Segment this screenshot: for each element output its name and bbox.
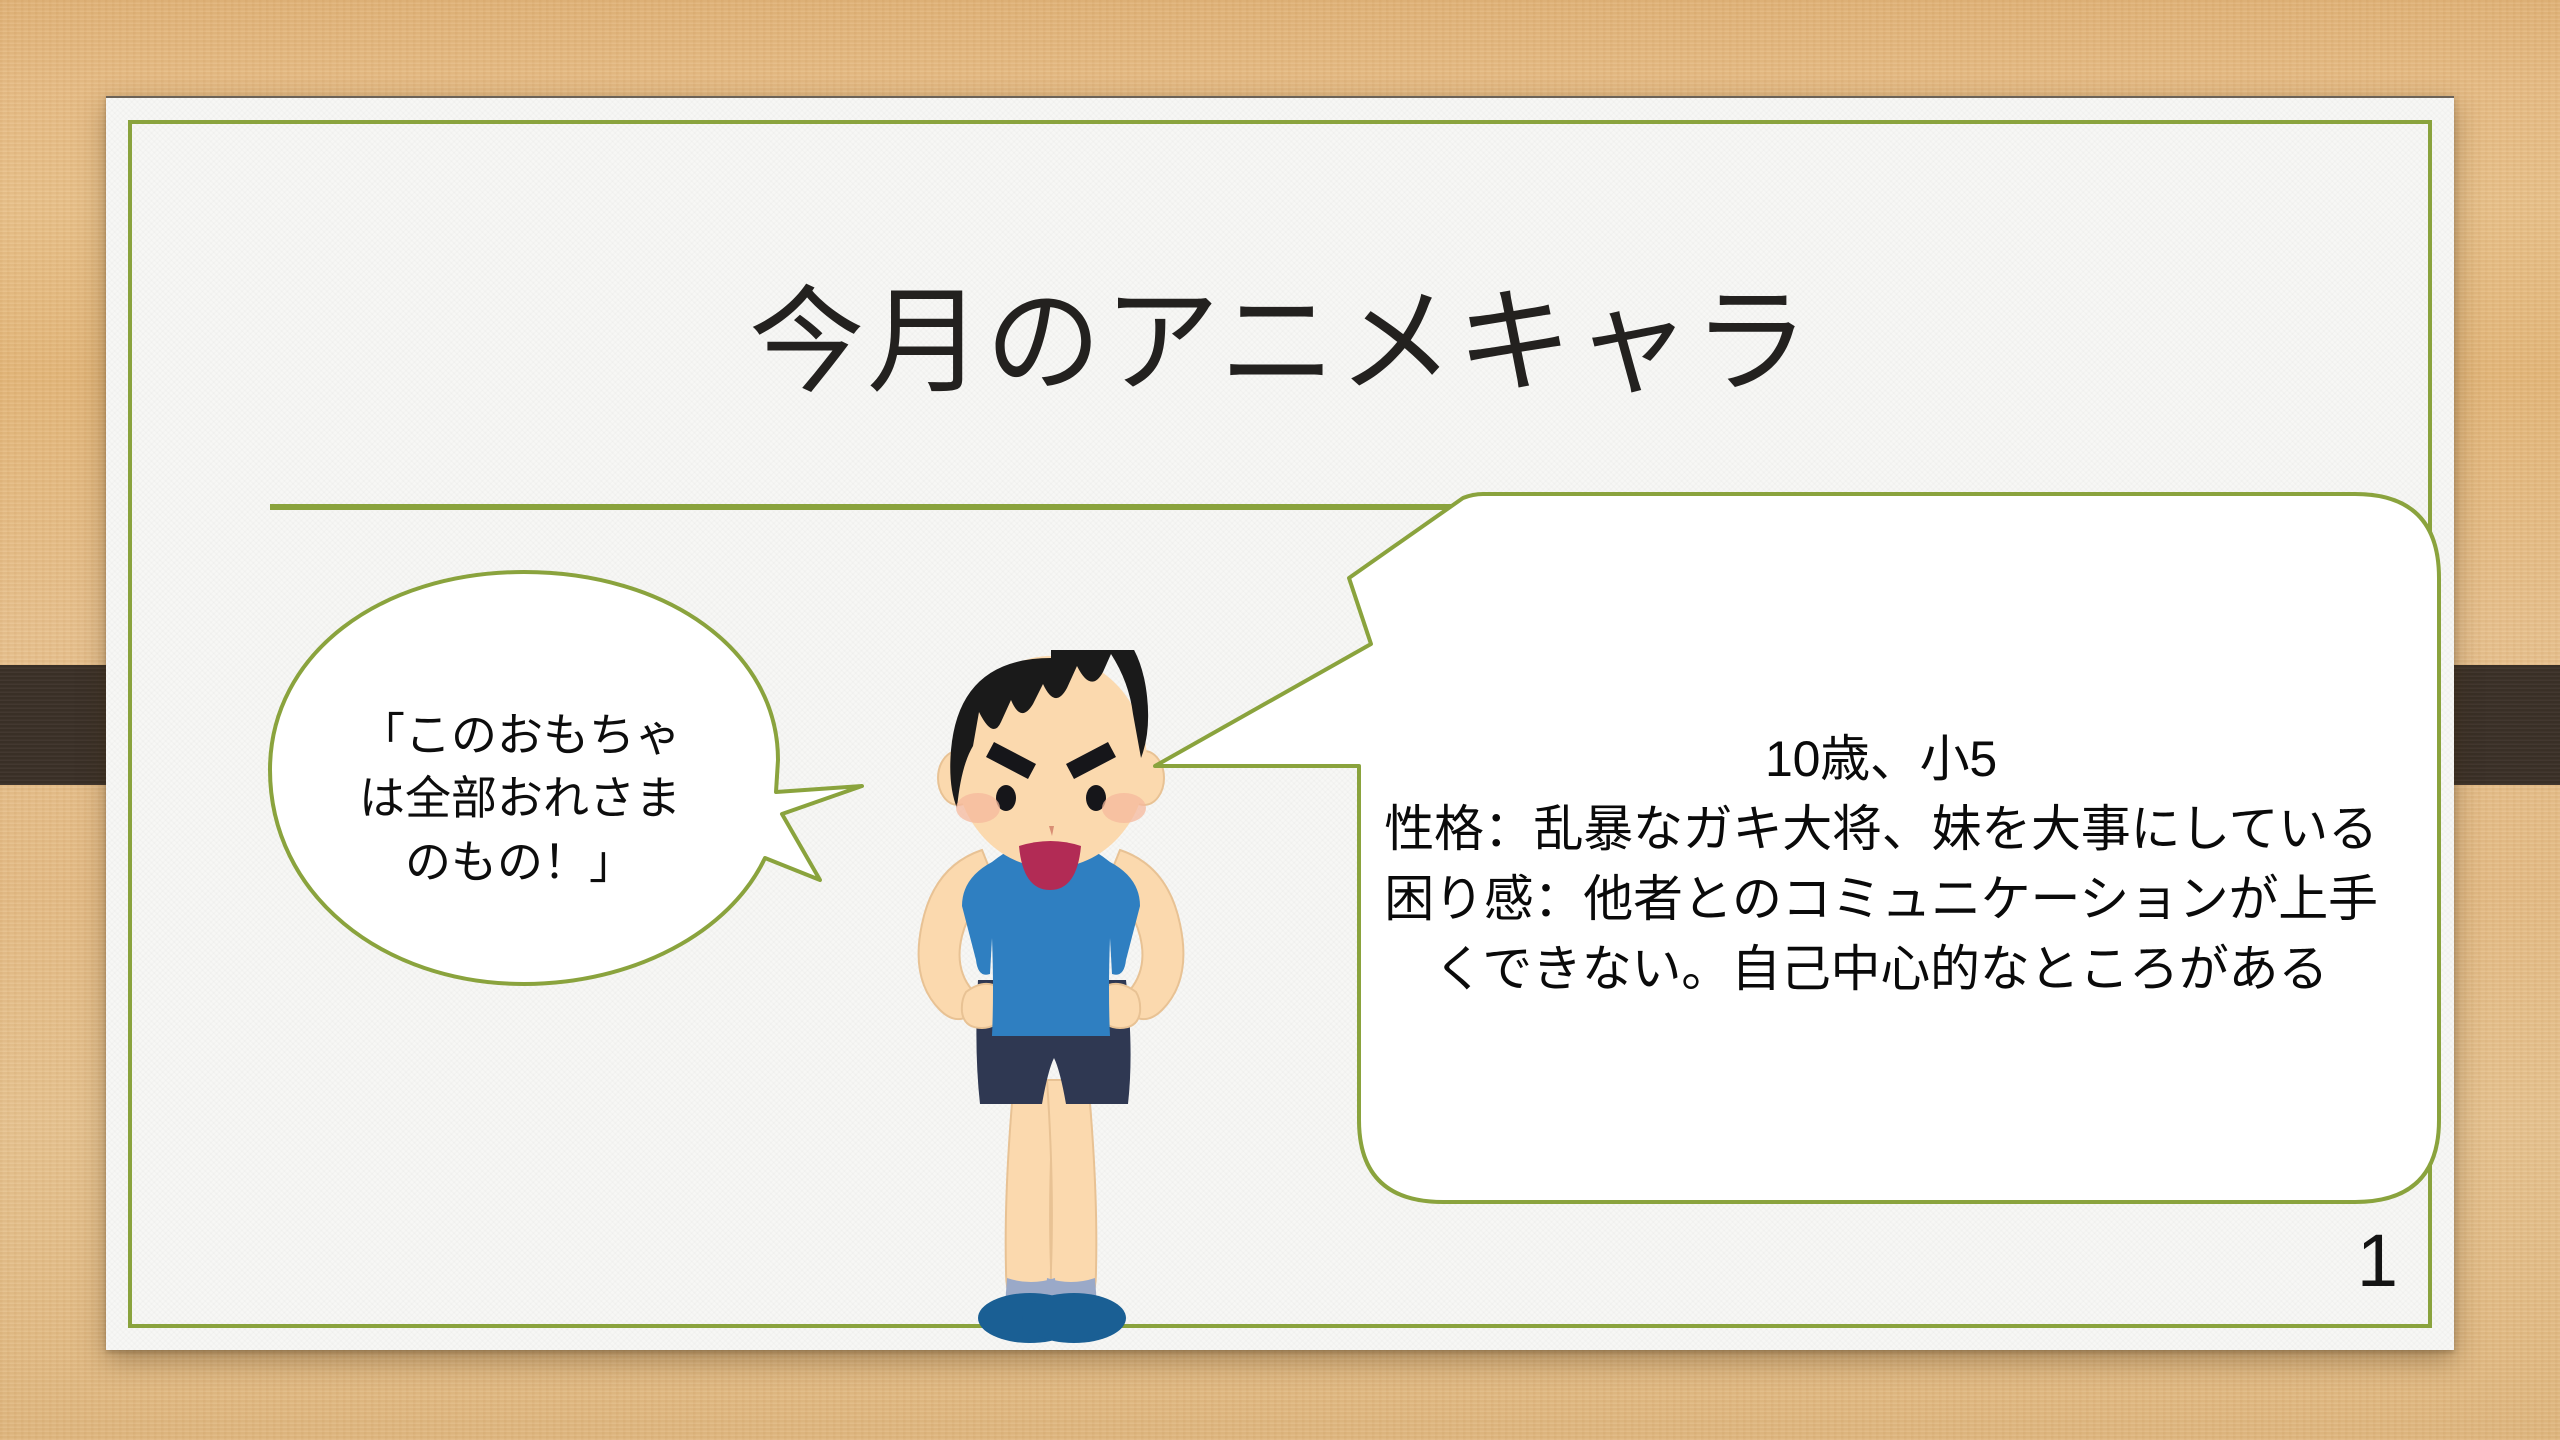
profile-line-personality: 性格：乱暴なガキ大将、妹を大事にしている bbox=[1351, 794, 2411, 864]
speech-bubble-line: のもの！」 bbox=[310, 831, 730, 894]
slide-canvas: 今月のアニメキャラ 「このおもちゃ は全部おれさま のもの！」 bbox=[0, 0, 2560, 1440]
profile-line-age: 10歳、小5 bbox=[1351, 724, 2411, 794]
profile-line-difficulty-1: 困り感：他者とのコミュニケーションが上手 bbox=[1351, 864, 2411, 934]
profile-callout-text: 10歳、小5 性格：乱暴なガキ大将、妹を大事にしている 困り感：他者とのコミュニ… bbox=[1351, 724, 2411, 1004]
speech-bubble-text: 「このおもちゃ は全部おれさま のもの！」 bbox=[310, 704, 730, 894]
speech-bubble-oval[interactable]: 「このおもちゃ は全部おれさま のもの！」 bbox=[262, 564, 902, 1048]
speech-bubble-line: は全部おれさま bbox=[310, 767, 730, 830]
speech-bubble-line: 「このおもちゃ bbox=[310, 704, 730, 767]
slide-page: 今月のアニメキャラ 「このおもちゃ は全部おれさま のもの！」 bbox=[106, 96, 2454, 1350]
profile-callout[interactable]: 10歳、小5 性格：乱暴なガキ大将、妹を大事にしている 困り感：他者とのコミュニ… bbox=[1121, 494, 2441, 1204]
profile-line-difficulty-2: くできない。自己中心的なところがある bbox=[1351, 934, 2411, 1004]
page-title: 今月のアニメキャラ bbox=[106, 276, 2454, 409]
page-number: 1 bbox=[2357, 1224, 2398, 1298]
